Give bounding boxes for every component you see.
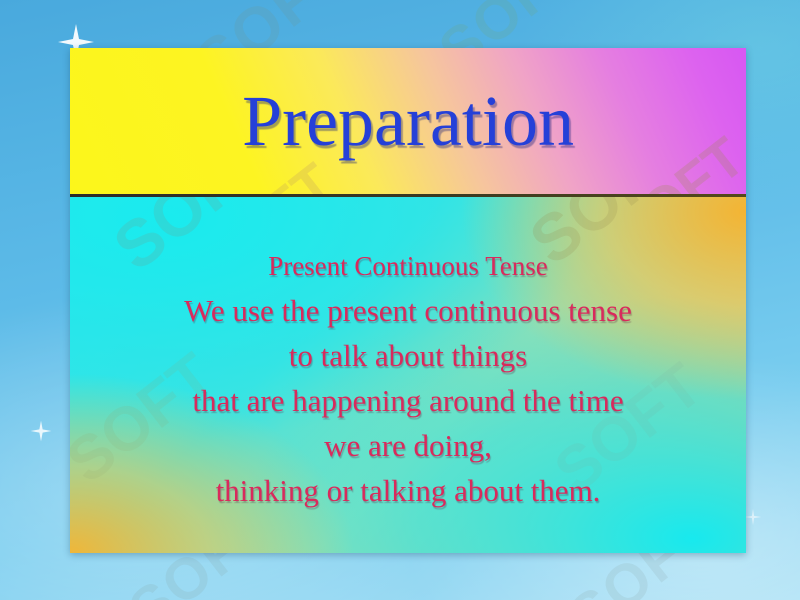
page-title: Preparation [70,48,746,194]
presentation-slide[interactable]: SOFT SOFT Preparation SOFT SOFT SOFT SOF… [70,48,746,553]
slide-body-text: Present Continuous Tense We use the pres… [70,197,746,513]
body-line: We use the present continuous tense [70,288,746,333]
body-line: that are happening around the time [70,378,746,423]
body-line: to talk about things [70,333,746,378]
slide-body-band: SOFT SOFT SOFT SOFT Present Continuous T… [70,197,746,553]
body-line: we are doing, [70,423,746,468]
body-line: Present Continuous Tense [70,245,746,288]
body-line: thinking or talking about them. [70,468,746,513]
slide-title-band: SOFT SOFT Preparation [70,48,746,194]
